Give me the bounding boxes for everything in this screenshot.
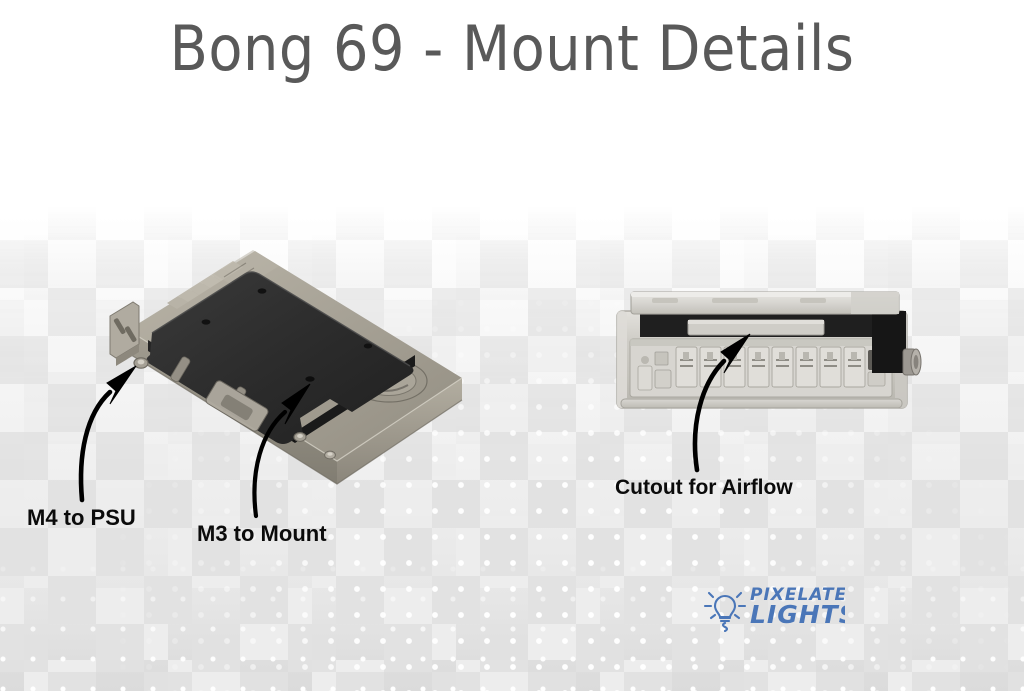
callout-label-m4-to-psu: M4 to PSU <box>27 505 136 531</box>
arrow-m3-to-mount <box>254 384 310 516</box>
arrow-m4-to-psu <box>81 366 136 500</box>
lightbulb-icon <box>705 593 745 631</box>
callout-arrows <box>0 0 1024 691</box>
logo-line-2: LIGHTS <box>750 600 845 629</box>
pixelated-lights-logo: PIXELATED LIGHTS <box>697 576 845 632</box>
slide-canvas: Bong 69 - Mount Details <box>0 0 1024 691</box>
callout-label-m3-to-mount: M3 to Mount <box>197 521 327 547</box>
callout-label-cutout-for-airflow: Cutout for Airflow <box>615 476 793 500</box>
arrow-cutout-airflow <box>695 334 750 470</box>
